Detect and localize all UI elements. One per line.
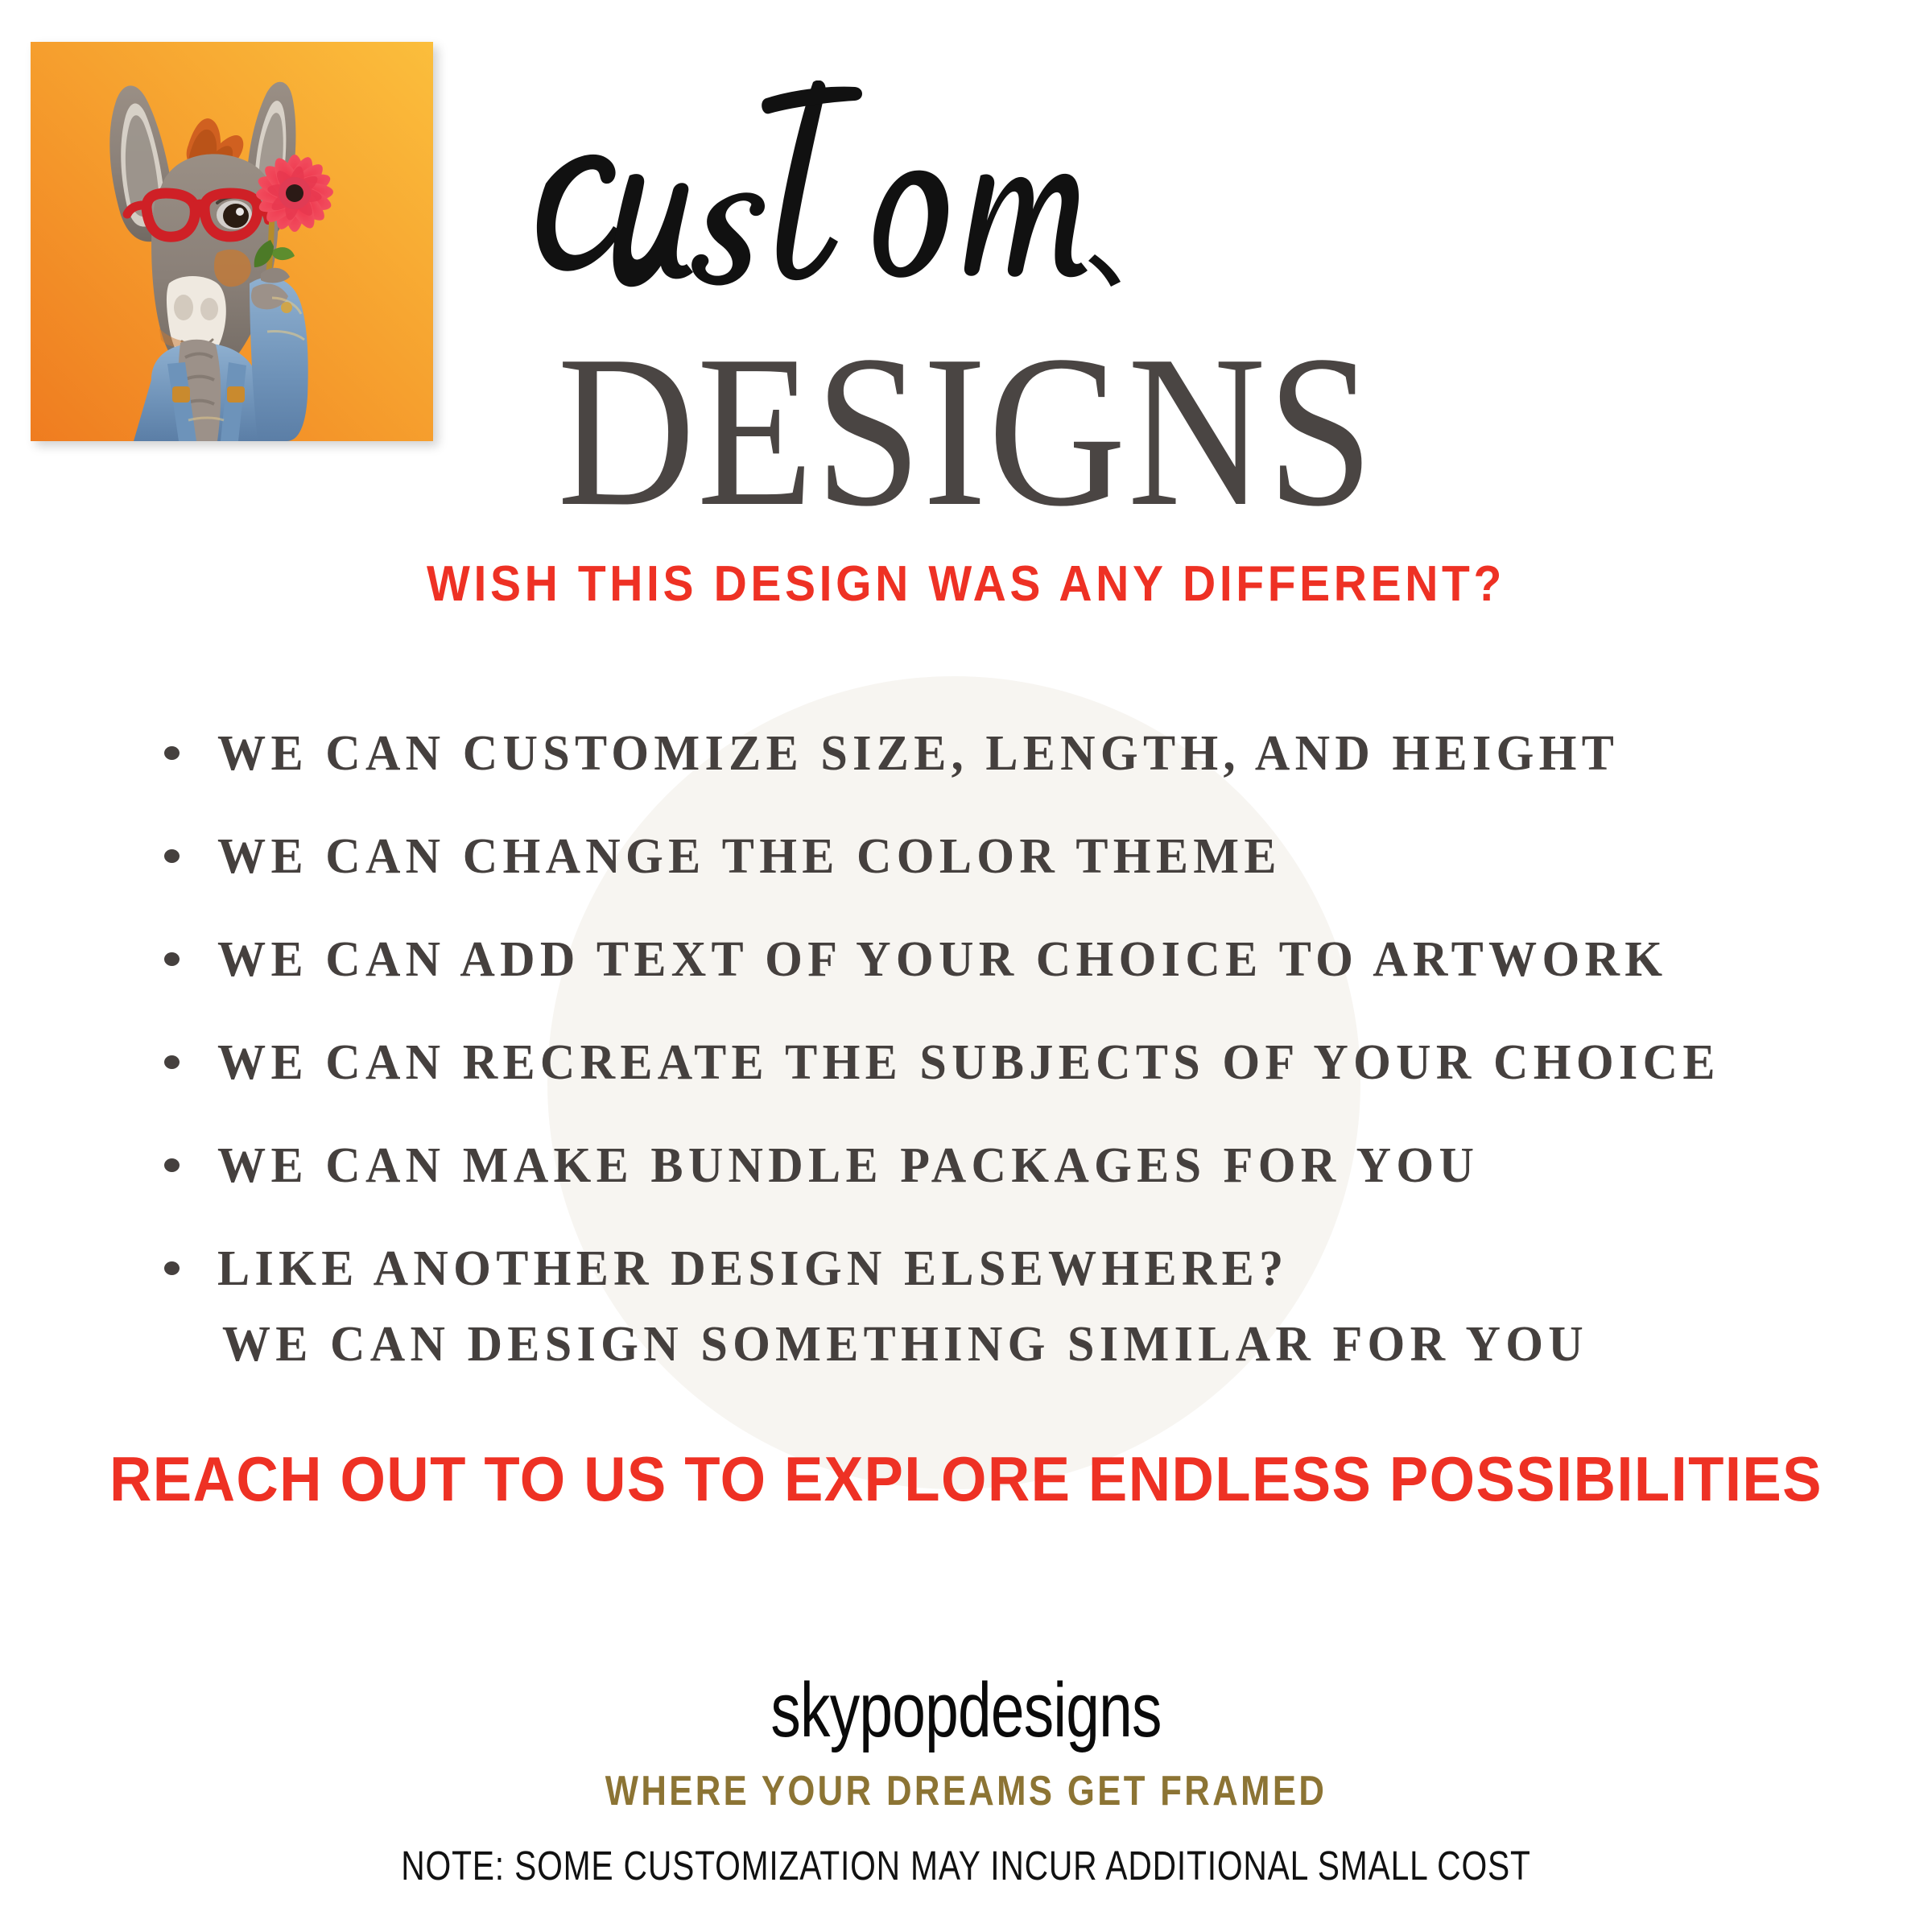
list-item: WE CAN CUSTOMIZE SIZE, LENGTH, AND HEIGH… [153,702,1843,805]
brand-tagline: WHERE YOUR DREAMS GET FRAMED [155,1767,1777,1815]
feature-text: WE CAN MAKE BUNDLE PACKAGES FOR YOU [217,1137,1479,1195]
bullet-icon [164,746,180,760]
feature-continuation-text: WE CAN DESIGN SOMETHING SIMILAR FOR YOU [217,1316,1588,1373]
script-title [451,80,1352,322]
poster-canvas: DESIGNS WISH THIS DESIGN WAS ANY DIFFERE… [0,0,1932,1932]
feature-text: WE CAN CHANGE THE COLOR THEME [217,828,1282,885]
footer-note: NOTE: SOME CUSTOMIZATION MAY INCUR ADDIT… [193,1842,1739,1889]
bullet-icon [164,1261,180,1275]
feature-text: WE CAN RECREATE THE SUBJECTS OF YOUR CHO… [217,1034,1720,1092]
list-item: WE CAN CHANGE THE COLOR THEME [153,805,1843,908]
feature-text: WE CAN CUSTOMIZE SIZE, LENGTH, AND HEIGH… [217,725,1619,782]
feature-text: LIKE ANOTHER DESIGN ELSEWHERE? [217,1241,1288,1298]
page-title: DESIGNS [242,338,1690,525]
list-item: WE CAN MAKE BUNDLE PACKAGES FOR YOU [153,1114,1843,1217]
list-item: WE CAN RECREATE THE SUBJECTS OF YOUR CHO… [153,1011,1843,1114]
feature-list: WE CAN CUSTOMIZE SIZE, LENGTH, AND HEIGH… [153,702,1843,1320]
bullet-icon [164,849,180,863]
feature-text: WE CAN ADD TEXT OF YOUR CHOICE TO ARTWOR… [217,931,1667,989]
headline-text: DESIGNS [557,338,1375,525]
bullet-icon [164,1055,180,1069]
bullet-icon [164,952,180,966]
call-to-action: REACH OUT TO US TO EXPLORE ENDLESS POSSI… [68,1443,1864,1516]
subheadline: WISH THIS DESIGN WAS ANY DIFFERENT? [77,555,1855,613]
bullet-icon [164,1158,180,1172]
brand-name: skypopdesigns [213,1666,1719,1755]
list-item: WE CAN ADD TEXT OF YOUR CHOICE TO ARTWOR… [153,908,1843,1011]
feature-continuation: WE CAN DESIGN SOMETHING SIMILAR FOR YOU [153,1304,1631,1385]
